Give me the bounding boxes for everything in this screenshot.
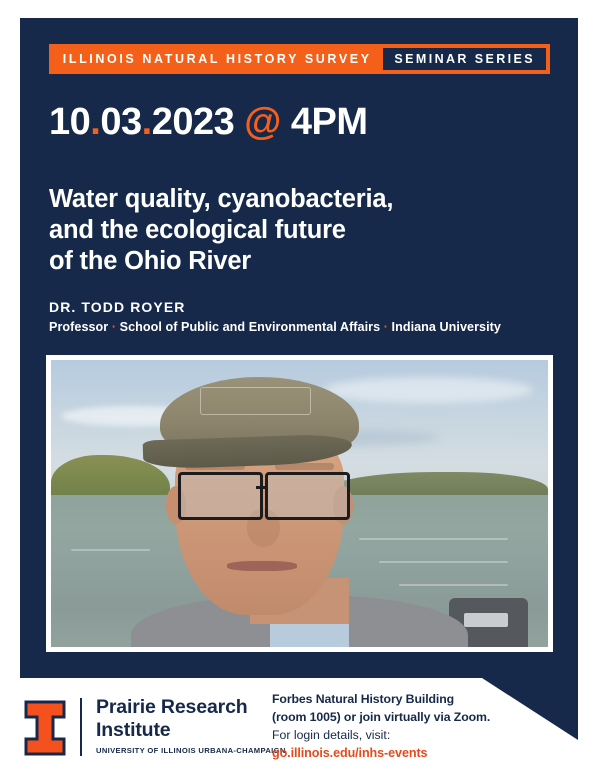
photo-boat-motor-highlight <box>464 613 509 627</box>
illinois-block-i-icon <box>24 700 66 756</box>
logo-divider <box>80 698 82 756</box>
logo-university-line: UNIVERSITY OF ILLINOIS URBANA-CHAMPAIGN <box>96 746 286 755</box>
speaker-photo <box>51 360 548 647</box>
speaker-name: DR. TODD ROYER <box>49 299 186 315</box>
banner-series-label: SEMINAR SERIES <box>381 46 548 72</box>
at-symbol: @ <box>244 101 281 143</box>
banner-organization-label: ILLINOIS NATURAL HISTORY SURVEY <box>49 44 381 74</box>
date-month: 10 <box>49 101 90 143</box>
speaker-photo-frame <box>46 355 553 652</box>
talk-title-line-1: Water quality, cyanobacteria, <box>49 184 529 215</box>
prairie-research-institute-logo: Prairie Research Institute UNIVERSITY OF… <box>24 696 286 756</box>
speaker-department: School of Public and Environmental Affai… <box>120 320 381 334</box>
talk-title-line-3: of the Ohio River <box>49 246 529 277</box>
speaker-institution: Indiana University <box>392 320 501 334</box>
photo-wave <box>379 561 508 563</box>
photo-subject-eyeglass-left <box>178 472 264 520</box>
header-banner: ILLINOIS NATURAL HISTORY SURVEY SEMINAR … <box>49 44 550 74</box>
event-time: 4PM <box>291 101 368 143</box>
photo-subject-eyeglass-right <box>265 472 351 520</box>
affiliation-separator-1: · <box>112 320 116 334</box>
events-link[interactable]: go.illinois.edu/inhs-events <box>272 744 522 763</box>
photo-subject-cap-logo <box>200 387 311 415</box>
date-year: 2023 <box>152 101 235 143</box>
seminar-poster: ILLINOIS NATURAL HISTORY SURVEY SEMINAR … <box>0 0 600 777</box>
event-date-time: 10.03.2023 @ 4PM <box>49 101 368 144</box>
affiliation-separator-2: · <box>384 320 388 334</box>
photo-subject-mouth <box>227 561 297 571</box>
speaker-role: Professor <box>49 320 108 334</box>
photo-cloud <box>324 377 533 403</box>
date-day: 03 <box>100 101 141 143</box>
logo-line-2: Institute <box>96 719 286 742</box>
talk-title-line-2: and the ecological future <box>49 215 529 246</box>
venue-room-and-zoom: (room 1005) or join virtually via Zoom. <box>272 708 522 726</box>
photo-subject-eyeglass-bridge <box>256 486 267 489</box>
logo-line-1: Prairie Research <box>96 696 286 719</box>
date-separator-2: . <box>142 101 152 143</box>
venue-building: Forbes Natural History Building <box>272 690 522 708</box>
speaker-affiliation: Professor · School of Public and Environ… <box>49 320 501 334</box>
photo-wave <box>359 538 508 540</box>
venue-login-note: For login details, visit: <box>272 726 522 744</box>
photo-wave <box>399 584 508 586</box>
date-separator-1: . <box>90 101 100 143</box>
poster-footer: Prairie Research Institute UNIVERSITY OF… <box>0 678 600 777</box>
talk-title: Water quality, cyanobacteria, and the ec… <box>49 184 529 277</box>
venue-information: Forbes Natural History Building (room 10… <box>272 690 522 763</box>
logo-wordmark: Prairie Research Institute UNIVERSITY OF… <box>96 696 286 755</box>
